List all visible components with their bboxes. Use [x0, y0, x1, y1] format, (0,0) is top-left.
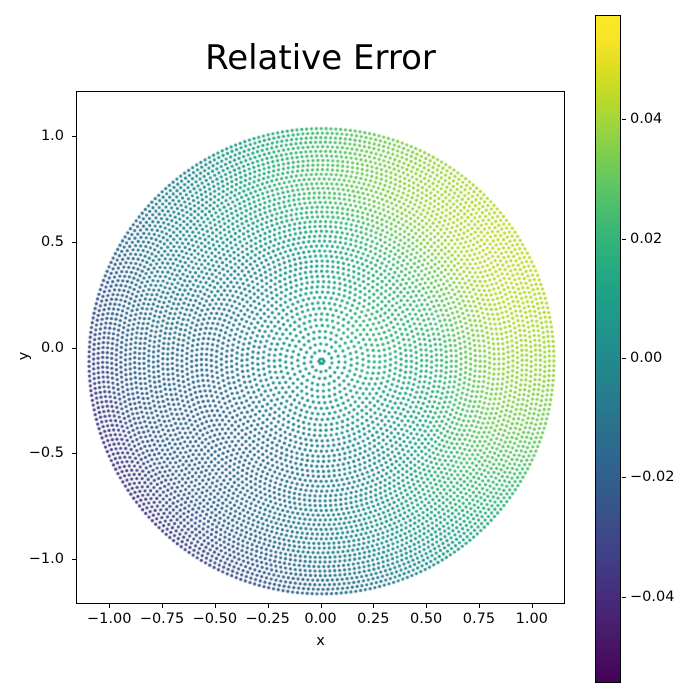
- y-tick-mark: [72, 559, 76, 560]
- colorbar-tick-mark: [622, 119, 626, 120]
- x-tick-mark: [268, 604, 269, 608]
- page-title: Relative Error: [76, 38, 565, 78]
- x-tick-label: 1.00: [497, 610, 567, 628]
- y-tick-mark: [72, 136, 76, 137]
- y-axis-label: y: [15, 326, 33, 386]
- plot-axes: [76, 91, 565, 604]
- colorbar-tick-label: 0.00: [630, 349, 662, 367]
- matplotlib-figure: Relative Error −1.00−0.75−0.50−0.250.000…: [0, 0, 700, 700]
- x-axis-label: x: [76, 632, 565, 650]
- colorbar-tick-label: 0.04: [630, 110, 662, 128]
- colorbar: [595, 15, 621, 683]
- scatter-plot-canvas: [77, 92, 565, 604]
- x-tick-mark: [109, 604, 110, 608]
- x-tick-mark: [532, 604, 533, 608]
- colorbar-tick-label: 0.02: [630, 230, 662, 248]
- colorbar-tick-label: −0.04: [630, 588, 674, 606]
- y-tick-label: 1.0: [0, 127, 64, 145]
- colorbar-tick-mark: [622, 358, 626, 359]
- x-tick-mark: [373, 604, 374, 608]
- colorbar-gradient: [596, 16, 620, 682]
- y-tick-label: −0.5: [0, 444, 64, 462]
- x-tick-mark: [479, 604, 480, 608]
- x-tick-mark: [321, 604, 322, 608]
- y-tick-label: 0.5: [0, 233, 64, 251]
- y-tick-mark: [72, 348, 76, 349]
- colorbar-tick-mark: [622, 477, 626, 478]
- x-tick-mark: [426, 604, 427, 608]
- x-tick-mark: [162, 604, 163, 608]
- colorbar-tick-mark: [622, 597, 626, 598]
- y-tick-mark: [72, 242, 76, 243]
- y-tick-label: −1.0: [0, 550, 64, 568]
- x-tick-mark: [215, 604, 216, 608]
- y-tick-mark: [72, 453, 76, 454]
- colorbar-tick-mark: [622, 239, 626, 240]
- colorbar-tick-label: −0.02: [630, 468, 674, 486]
